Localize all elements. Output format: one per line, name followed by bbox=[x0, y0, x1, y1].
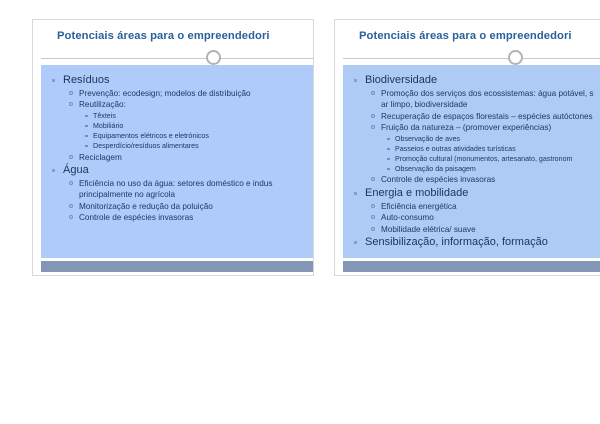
dash-bullet-icon bbox=[85, 125, 88, 127]
slide-footer-bar-right bbox=[343, 261, 600, 272]
bullet-text: Eficiência energética bbox=[381, 201, 457, 212]
slide-content-right: Potenciais áreas para o empreendedori Bi… bbox=[335, 20, 600, 275]
bullet-level3: Equipamentos elétricos e eletrónicos bbox=[41, 131, 314, 141]
title-divider-right bbox=[343, 58, 600, 59]
title-divider-left bbox=[41, 58, 314, 59]
circle-outline-bullet-icon bbox=[69, 204, 73, 208]
circle-outline-bullet-icon bbox=[69, 102, 73, 106]
circle-outline-bullet-icon bbox=[371, 125, 375, 129]
dash-bullet-icon bbox=[387, 168, 390, 170]
bullet-level3: Observação da paisagem bbox=[343, 164, 600, 174]
square-bullet-icon bbox=[354, 192, 357, 195]
bullet-level2: Eficiência no uso da água: setores domés… bbox=[41, 178, 314, 189]
dash-bullet-icon bbox=[85, 145, 88, 147]
bullet-text: Observação da paisagem bbox=[395, 164, 476, 174]
bullet-text: Equipamentos elétricos e eletrónicos bbox=[93, 131, 209, 141]
circle-outline-bullet-icon bbox=[69, 91, 73, 95]
bullet-text: Desperdício/resíduos alimentares bbox=[93, 141, 199, 151]
slide-content-left: Potenciais áreas para o empreendedori Re… bbox=[33, 20, 314, 275]
bullet-text: Observação de aves bbox=[395, 134, 460, 144]
bullet-level1: Energia e mobilidade bbox=[343, 186, 600, 201]
slide-thumbnail-left[interactable]: Potenciais áreas para o empreendedori Re… bbox=[32, 19, 314, 276]
bullet-continuation: principalmente no agrícola bbox=[41, 189, 314, 200]
bullet-text: Passeios e outras atividades turísticas bbox=[395, 144, 516, 154]
circle-outline-bullet-icon bbox=[371, 91, 375, 95]
bullet-text: Biodiversidade bbox=[365, 73, 437, 88]
bullet-text: Resíduos bbox=[63, 73, 109, 88]
dash-bullet-icon bbox=[85, 135, 88, 137]
bullet-text: Reutilização: bbox=[79, 99, 126, 110]
bullet-text: Energia e mobilidade bbox=[365, 186, 468, 201]
bullet-level1: Sensibilização, informação, formação bbox=[343, 235, 600, 250]
circle-outline-bullet-icon bbox=[371, 227, 375, 231]
dash-bullet-icon bbox=[85, 115, 88, 117]
square-bullet-icon bbox=[52, 79, 55, 82]
bullet-text: Reciclagem bbox=[79, 152, 122, 163]
slide-title-right: Potenciais áreas para o empreendedori bbox=[359, 30, 572, 42]
bullet-text: Promoção cultural (monumentos, artesanat… bbox=[395, 154, 572, 164]
bullet-text: Recuperação de espaços florestais – espé… bbox=[381, 111, 593, 122]
bullet-level2: Eficiência energética bbox=[343, 201, 600, 212]
bullet-text: Fruição da natureza – (promover experiên… bbox=[381, 122, 551, 133]
circle-outline-bullet-icon bbox=[69, 155, 73, 159]
dash-bullet-icon bbox=[387, 158, 390, 160]
square-bullet-icon bbox=[354, 241, 357, 244]
handout-page: Potenciais áreas para o empreendedori Re… bbox=[0, 0, 600, 424]
bullet-level2: Prevenção: ecodesign; modelos de distrib… bbox=[41, 88, 314, 99]
bullet-level2: Reciclagem bbox=[41, 152, 314, 163]
bullet-level3: Observação de aves bbox=[343, 134, 600, 144]
bullet-text: Monitorização e redução da poluição bbox=[79, 201, 213, 212]
bullet-level2: Recuperação de espaços florestais – espé… bbox=[343, 111, 600, 122]
circle-outline-bullet-icon bbox=[371, 177, 375, 181]
square-bullet-icon bbox=[354, 79, 357, 82]
bullet-text: Mobilidade elétrica/ suave bbox=[381, 224, 476, 235]
slide-title-zone-left: Potenciais áreas para o empreendedori bbox=[33, 20, 314, 58]
circle-outline-bullet-icon bbox=[371, 114, 375, 118]
bullet-level1: Biodiversidade bbox=[343, 73, 600, 88]
bullet-level3: Passeios e outras atividades turísticas bbox=[343, 144, 600, 154]
bullet-text: Têxteis bbox=[93, 111, 116, 121]
slide-body-right: Biodiversidade Promoção dos serviços dos… bbox=[343, 65, 600, 258]
slide-footer-bar-left bbox=[41, 261, 314, 272]
circle-outline-bullet-icon bbox=[69, 181, 73, 185]
bullet-text: Controle de espécies invasoras bbox=[79, 212, 193, 223]
bullet-text: Auto-consumo bbox=[381, 212, 434, 223]
bullet-level2: Mobilidade elétrica/ suave bbox=[343, 224, 600, 235]
bullet-text: Mobiliário bbox=[93, 121, 123, 131]
bullet-text: Controle de espécies invasoras bbox=[381, 174, 495, 185]
circle-outline-bullet-icon bbox=[371, 204, 375, 208]
circle-outline-icon bbox=[206, 50, 221, 65]
circle-outline-icon bbox=[508, 50, 523, 65]
dash-bullet-icon bbox=[387, 138, 390, 140]
circle-outline-bullet-icon bbox=[69, 215, 73, 219]
circle-outline-bullet-icon bbox=[371, 215, 375, 219]
bullet-level2: Controle de espécies invasoras bbox=[343, 174, 600, 185]
bullet-text: Sensibilização, informação, formação bbox=[365, 235, 548, 250]
bullet-level2: Auto-consumo bbox=[343, 212, 600, 223]
bullet-level3: Desperdício/resíduos alimentares bbox=[41, 141, 314, 151]
bullet-level2: Controle de espécies invasoras bbox=[41, 212, 314, 223]
bullet-text: Água bbox=[63, 163, 89, 178]
bullet-level3: Promoção cultural (monumentos, artesanat… bbox=[343, 154, 600, 164]
bullet-level2: Reutilização: bbox=[41, 99, 314, 110]
slide-body-left: Resíduos Prevenção: ecodesign; modelos d… bbox=[41, 65, 314, 258]
bullet-text: Prevenção: ecodesign; modelos de distrib… bbox=[79, 88, 251, 99]
bullet-level3: Têxteis bbox=[41, 111, 314, 121]
bullet-level3: Mobiliário bbox=[41, 121, 314, 131]
slide-title-left: Potenciais áreas para o empreendedori bbox=[57, 30, 270, 42]
bullet-text: principalmente no agrícola bbox=[79, 189, 175, 200]
dash-bullet-icon bbox=[387, 148, 390, 150]
bullet-text: Eficiência no uso da água: setores domés… bbox=[79, 178, 272, 189]
bullet-text: ar limpo, biodiversidade bbox=[381, 99, 467, 110]
bullet-level2: Fruição da natureza – (promover experiên… bbox=[343, 122, 600, 133]
bullet-text: Promoção dos serviços dos ecossistemas: … bbox=[381, 88, 594, 99]
slide-title-zone-right: Potenciais áreas para o empreendedori bbox=[335, 20, 600, 58]
bullet-level1: Água bbox=[41, 163, 314, 178]
bullet-continuation: ar limpo, biodiversidade bbox=[343, 99, 600, 110]
square-bullet-icon bbox=[52, 169, 55, 172]
bullet-level2: Promoção dos serviços dos ecossistemas: … bbox=[343, 88, 600, 99]
bullet-level2: Monitorização e redução da poluição bbox=[41, 201, 314, 212]
bullet-level1: Resíduos bbox=[41, 73, 314, 88]
slide-thumbnail-right[interactable]: Potenciais áreas para o empreendedori Bi… bbox=[334, 19, 600, 276]
